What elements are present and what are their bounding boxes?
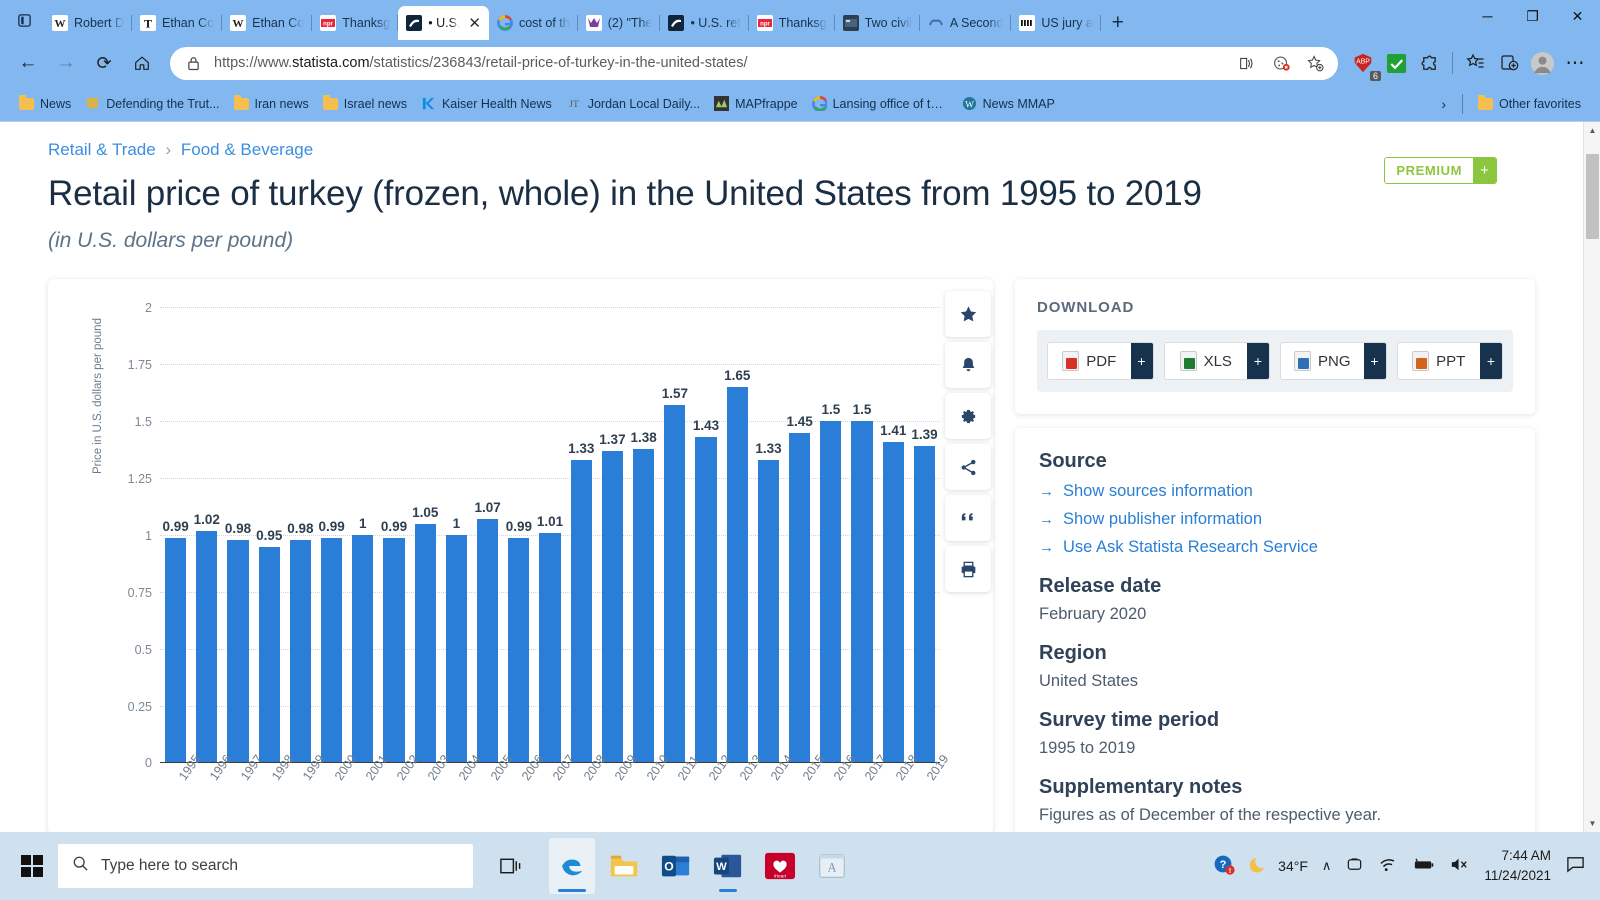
source-link-0[interactable]: →Show sources information: [1039, 482, 1511, 501]
tab-title: • U.S.: [428, 16, 460, 30]
tab-title: Two civil: [865, 16, 912, 30]
browser-tab-4[interactable]: • U.S.✕: [398, 6, 489, 40]
taskbar-edge-icon[interactable]: [549, 838, 595, 894]
bar-2001[interactable]: 1: [352, 535, 373, 763]
browser-tab-1[interactable]: TEthan Co: [132, 6, 222, 40]
xls-file-icon: [1180, 351, 1197, 371]
folder-icon: [19, 98, 34, 110]
x-tick-slot-1998: 1998: [254, 771, 285, 827]
page-scrollbar[interactable]: ▲ ▼: [1583, 122, 1600, 832]
mapfrappe-icon: [714, 96, 729, 111]
bar-value-label-2005: 1.07: [474, 500, 500, 515]
taskbar-acrobat-icon[interactable]: A: [809, 838, 855, 894]
bar-2007[interactable]: 1.01: [539, 533, 560, 763]
bar-value-label-2003: 1.05: [412, 505, 438, 520]
taskbar-iheart-icon[interactable]: iHeart: [757, 838, 803, 894]
scroll-down-arrow[interactable]: ▼: [1584, 815, 1600, 832]
arrow-right-icon: →: [1039, 539, 1054, 556]
bookmark-item-8[interactable]: WNews MMAP: [955, 92, 1062, 115]
browser-tab-0[interactable]: WRobert D: [44, 6, 132, 40]
bookmarks-overflow-button[interactable]: ›: [1433, 96, 1454, 112]
alert-bell-icon[interactable]: [945, 342, 991, 388]
bar-2014[interactable]: 1.33: [758, 460, 779, 763]
windows-logo-icon: [21, 855, 43, 877]
browser-tab-5[interactable]: cost of th: [489, 6, 578, 40]
region-heading: Region: [1039, 642, 1511, 665]
source-link-label: Show publisher information: [1063, 510, 1262, 529]
tab-title: A Second: [950, 16, 1004, 30]
download-plus-icon[interactable]: +: [1247, 343, 1269, 379]
clock-time: 7:44 AM: [1484, 846, 1551, 866]
x-tick-slot-2018: 2018: [878, 771, 909, 827]
supplementary-notes-value: Figures as of December of the respective…: [1039, 806, 1511, 825]
bar-2015[interactable]: 1.45: [789, 433, 810, 764]
bar-1999[interactable]: 0.98: [290, 540, 311, 763]
search-icon: [72, 855, 89, 877]
taskbar-outlook-icon[interactable]: O: [653, 838, 699, 894]
bar-2004[interactable]: 1: [446, 535, 467, 763]
release-date-heading: Release date: [1039, 575, 1511, 598]
svg-text:T: T: [144, 17, 152, 31]
source-link-2[interactable]: →Use Ask Statista Research Service: [1039, 538, 1511, 557]
svg-text:W: W: [716, 861, 727, 873]
browser-tab-11[interactable]: US jury a: [1011, 6, 1100, 40]
page-title: Retail price of turkey (frozen, whole) i…: [48, 174, 1555, 214]
info-card: Source →Show sources information→Show pu…: [1015, 428, 1535, 832]
bar-slot-2014: 1.33: [753, 307, 784, 763]
download-xls-button[interactable]: XLS+: [1164, 342, 1271, 380]
onedrive-icon[interactable]: [1345, 856, 1364, 876]
bar-value-label-2004: 1: [453, 516, 461, 531]
bar-slot-2017: 1.5: [846, 307, 877, 763]
tab-title: US jury a: [1041, 16, 1092, 30]
reload-button[interactable]: ⟳: [86, 46, 122, 80]
folder-icon: [234, 98, 249, 110]
browser-tab-2[interactable]: WEthan Co: [222, 6, 312, 40]
bar-slot-2012: 1.43: [690, 307, 721, 763]
x-tick-slot-2001: 2001: [347, 771, 378, 827]
tab-actions-icon[interactable]: [4, 0, 44, 40]
source-links: →Show sources information→Show publisher…: [1039, 482, 1511, 557]
x-tick-slot-1999: 1999: [285, 771, 316, 827]
task-view-icon[interactable]: [487, 838, 533, 894]
start-button[interactable]: [6, 832, 58, 900]
profile-avatar[interactable]: [1527, 48, 1557, 78]
restore-button[interactable]: ❐: [1510, 0, 1555, 32]
x-tick-slot-2017: 2017: [846, 771, 877, 827]
x-tick-slot-2010: 2010: [628, 771, 659, 827]
window-controls: ─ ❐ ✕: [1465, 0, 1600, 40]
bookmarks-divider: [1462, 94, 1463, 114]
browser-window: WRobert DTEthan CoWEthan ConprThanksg• U…: [0, 0, 1600, 832]
weather-widget[interactable]: 34°F: [1249, 854, 1308, 878]
notification-icon[interactable]: [1565, 855, 1586, 877]
right-sidebar: DOWNLOAD PDF+XLS+PNG+PPT+ Source →Show s…: [1015, 279, 1535, 832]
bar-slot-2010: 1.38: [628, 307, 659, 763]
add-to-collection-icon[interactable]: [1494, 48, 1524, 78]
bar-slot-2011: 1.57: [659, 307, 690, 763]
plot-area: 00.250.50.7511.251.51.752 0.991.020.980.…: [160, 307, 940, 763]
bar-2010[interactable]: 1.38: [633, 449, 654, 764]
tab-close-icon[interactable]: ✕: [468, 16, 481, 31]
bookmark-item-3[interactable]: Israel news: [316, 93, 414, 115]
bar-value-label-1999: 0.98: [287, 521, 313, 536]
bar-value-label-1995: 0.99: [162, 519, 188, 534]
bar-value-label-2014: 1.33: [755, 441, 781, 456]
jt-icon: JT: [566, 96, 582, 111]
collections-icon[interactable]: [1461, 48, 1491, 78]
forward-button[interactable]: →: [48, 46, 84, 80]
bar-chart: Price in U.S. dollars per pound 00.250.5…: [48, 279, 993, 832]
google-icon: [812, 96, 827, 111]
statista-page: Retail & Trade › Food & Beverage PREMIUM…: [0, 140, 1555, 832]
bar-value-label-2006: 0.99: [506, 519, 532, 534]
bar-slot-2006: 0.99: [503, 307, 534, 763]
survey-period-heading: Survey time period: [1039, 709, 1511, 732]
arrow-right-icon: →: [1039, 483, 1054, 500]
download-plus-icon[interactable]: +: [1364, 343, 1386, 379]
tray-overflow-chevron[interactable]: ∧: [1322, 858, 1332, 874]
bar-value-label-1996: 1.02: [194, 512, 220, 527]
home-button[interactable]: [124, 46, 160, 80]
breadcrumb: Retail & Trade › Food & Beverage: [48, 140, 1555, 160]
x-tick-slot-2014: 2014: [753, 771, 784, 827]
download-png-button[interactable]: PNG+: [1280, 342, 1387, 380]
help-icon[interactable]: ?!: [1213, 854, 1235, 879]
news-icon: [843, 15, 859, 31]
battery-icon[interactable]: [1412, 857, 1435, 875]
tab-title: Thanksg: [342, 16, 390, 30]
puzzle-extension-icon[interactable]: [1414, 48, 1444, 78]
x-tick-slot-2007: 2007: [534, 771, 565, 827]
tab-strip: WRobert DTEthan CoWEthan ConprThanksg• U…: [0, 0, 1600, 40]
back-button[interactable]: ←: [10, 46, 46, 80]
download-plus-icon[interactable]: +: [1131, 343, 1153, 379]
bar-1996[interactable]: 1.02: [196, 531, 217, 764]
svg-text:W: W: [55, 18, 66, 30]
x-tick-slot-2003: 2003: [410, 771, 441, 827]
bar-slot-2003: 1.05: [410, 307, 441, 763]
npr-icon: npr: [320, 15, 336, 31]
bookmark-item-4[interactable]: Kaiser Health News: [414, 92, 559, 115]
folder-icon: [1478, 98, 1493, 110]
statista-icon: [668, 15, 684, 31]
bar-slot-2001: 1: [347, 307, 378, 763]
download-pdf-button[interactable]: PDF+: [1047, 342, 1154, 380]
y-tick-0: 0: [145, 756, 152, 770]
download-label: PDF: [1086, 353, 1116, 370]
y-tick-0.75: 0.75: [128, 586, 152, 600]
premium-plus-icon: +: [1473, 158, 1496, 183]
url-text: https://www.statista.com/statistics/2368…: [214, 55, 1226, 71]
tab-title: Ethan Co: [162, 16, 214, 30]
bar-slot-1996: 1.02: [191, 307, 222, 763]
y-axis-label: Price in U.S. dollars per pound: [92, 318, 104, 474]
bar-slot-2009: 1.37: [597, 307, 628, 763]
adblock-count-badge: 6: [1370, 71, 1381, 81]
khn-icon: [421, 96, 436, 111]
bar-2017[interactable]: 1.5: [851, 421, 872, 763]
taskbar-word-icon[interactable]: W: [705, 838, 751, 894]
read-aloud-icon[interactable]: [1234, 56, 1260, 71]
bookmark-item-5[interactable]: JTJordan Local Daily...: [559, 92, 707, 115]
svg-text:npr: npr: [760, 22, 770, 28]
y-tick-1.75: 1.75: [128, 358, 152, 372]
bar-value-label-2007: 1.01: [537, 514, 563, 529]
breadcrumb-retail-trade[interactable]: Retail & Trade: [48, 140, 156, 159]
bar-value-label-2001: 1: [359, 516, 367, 531]
x-tick-slot-2006: 2006: [503, 771, 534, 827]
source-link-label: Show sources information: [1063, 482, 1253, 501]
taskbar-search-placeholder: Type here to search: [101, 857, 238, 875]
bar-value-label-2018: 1.41: [880, 423, 906, 438]
download-title: DOWNLOAD: [1037, 299, 1513, 316]
browser-menu-icon[interactable]: ⋯: [1560, 48, 1590, 78]
bar-slot-2008: 1.33: [566, 307, 597, 763]
tab-title: cost of th: [519, 16, 570, 30]
x-tick-slot-2011: 2011: [659, 771, 690, 827]
bar-value-label-2010: 1.38: [631, 430, 657, 445]
taskbar-search-input[interactable]: Type here to search: [58, 844, 473, 888]
taskbar-apps: OWiHeartA: [549, 838, 855, 894]
statista-icon: [406, 15, 422, 31]
moon-icon: [1249, 854, 1270, 878]
browser-tab-8[interactable]: nprThanksg: [749, 6, 835, 40]
x-tick-slot-2009: 2009: [597, 771, 628, 827]
bar-value-label-2016: 1.5: [821, 402, 840, 417]
bar-slot-1999: 0.98: [285, 307, 316, 763]
bookmarks-bar: NewsDefending the Trut...Iran newsIsrael…: [0, 86, 1600, 122]
tab-title: • U.S. ret: [690, 16, 740, 30]
bookmark-item-0[interactable]: News: [12, 93, 78, 115]
temperature-value: 34°F: [1278, 858, 1308, 874]
download-ppt-button[interactable]: PPT+: [1397, 342, 1504, 380]
source-link-label: Use Ask Statista Research Service: [1063, 538, 1318, 557]
bar-value-label-2013: 1.65: [724, 368, 750, 383]
download-label: PPT: [1436, 353, 1465, 370]
google-icon: [497, 15, 513, 31]
svg-text:npr: npr: [323, 22, 333, 28]
x-tick-slot-1996: 1996: [191, 771, 222, 827]
svg-text:iHeart: iHeart: [774, 873, 787, 878]
scroll-up-arrow[interactable]: ▲: [1584, 122, 1600, 139]
breadcrumb-separator: ›: [165, 140, 171, 159]
address-bar[interactable]: https://www.statista.com/statistics/2368…: [170, 47, 1338, 80]
bar-slot-1995: 0.99: [160, 307, 191, 763]
bar-2018[interactable]: 1.41: [883, 442, 904, 763]
tab-title: (2) "The: [608, 16, 653, 30]
windows-taskbar: Type here to search OWiHeartA ?! 34°F ∧ …: [0, 832, 1600, 900]
share-icon[interactable]: [945, 444, 991, 490]
tab-title: Robert D: [74, 16, 124, 30]
y-tick-1: 1: [145, 529, 152, 543]
bar-2011[interactable]: 1.57: [664, 405, 685, 763]
pdf-file-icon: [1062, 351, 1079, 371]
x-tick-slot-2019: 2019: [909, 771, 940, 827]
bar-value-label-2017: 1.5: [853, 402, 872, 417]
browser-tab-3[interactable]: nprThanksg: [312, 6, 398, 40]
wifi-icon[interactable]: [1378, 856, 1398, 876]
bar-slot-1997: 0.98: [222, 307, 253, 763]
minimize-button[interactable]: ─: [1465, 0, 1510, 32]
x-tick-slot-2005: 2005: [472, 771, 503, 827]
download-label: PNG: [1318, 353, 1351, 370]
x-tick-slot-1997: 1997: [222, 771, 253, 827]
bookmark-item-7[interactable]: Lansing office of th...: [805, 92, 955, 115]
close-button[interactable]: ✕: [1555, 0, 1600, 32]
bar-2006[interactable]: 0.99: [508, 538, 529, 764]
bookmark-label: Kaiser Health News: [442, 97, 552, 111]
toolbar-divider: [1452, 52, 1453, 74]
bar-value-label-2008: 1.33: [568, 441, 594, 456]
bookmark-label: Iran news: [255, 97, 309, 111]
folder-icon: [323, 98, 338, 110]
bar-1997[interactable]: 0.98: [227, 540, 248, 763]
bookmark-label: MAPfrappe: [735, 97, 798, 111]
bookmark-item-6[interactable]: MAPfrappe: [707, 92, 805, 115]
bar-2009[interactable]: 1.37: [602, 451, 623, 763]
x-tick-slot-1995: 1995: [160, 771, 191, 827]
download-card: DOWNLOAD PDF+XLS+PNG+PPT+: [1015, 279, 1535, 414]
npr-icon: npr: [757, 15, 773, 31]
favorite-star-icon[interactable]: [945, 291, 991, 337]
y-tick-1.25: 1.25: [128, 472, 152, 486]
new-tab-button[interactable]: +: [1101, 6, 1135, 40]
bar-slot-2005: 1.07: [472, 307, 503, 763]
bookmark-item-2[interactable]: Iran news: [227, 93, 316, 115]
bar-slot-2007: 1.01: [534, 307, 565, 763]
premium-label: PREMIUM: [1385, 158, 1473, 183]
wikipedia-icon: W: [230, 15, 246, 31]
bar-slot-2004: 1: [441, 307, 472, 763]
bar-slot-2016: 1.5: [815, 307, 846, 763]
settings-gear-icon[interactable]: [945, 393, 991, 439]
arrow-right-icon: →: [1039, 511, 1054, 528]
svg-text:W: W: [233, 18, 244, 30]
bookmark-label: Jordan Local Daily...: [588, 97, 700, 111]
x-tick-slot-2008: 2008: [566, 771, 597, 827]
bookmark-label: Defending the Trut...: [106, 97, 219, 111]
tab-title: Ethan Co: [252, 16, 304, 30]
png-file-icon: [1294, 351, 1311, 371]
download-buttons: PDF+XLS+PNG+PPT+: [1037, 330, 1513, 392]
x-tick-slot-2000: 2000: [316, 771, 347, 827]
bar-2016[interactable]: 1.5: [820, 421, 841, 763]
bookmark-item-1[interactable]: Defending the Trut...: [78, 92, 226, 115]
add-favorite-icon[interactable]: [1302, 55, 1328, 72]
browser-tab-6[interactable]: (2) "The: [578, 6, 661, 40]
ppt-file-icon: [1412, 351, 1429, 371]
system-tray: ?! 34°F ∧ 7:44 AM 11/24/2021: [1213, 846, 1594, 885]
svg-text:JT: JT: [569, 99, 579, 110]
bookmark-label: Lansing office of th...: [833, 97, 948, 111]
bar-value-label-2019: 1.39: [911, 427, 937, 442]
svg-text:W: W: [965, 100, 974, 110]
taskbar-clock[interactable]: 7:44 AM 11/24/2021: [1484, 846, 1551, 885]
tab-title: Thanksg: [779, 16, 827, 30]
x-tick-slot-2004: 2004: [441, 771, 472, 827]
bar-2005[interactable]: 1.07: [477, 519, 498, 763]
page-subtitle: (in U.S. dollars per pound): [48, 229, 1555, 253]
barcode-icon: [1019, 15, 1035, 31]
svg-text:A: A: [828, 861, 837, 875]
checkmark-extension-icon[interactable]: [1381, 48, 1411, 78]
wikipedia-icon: W: [52, 15, 68, 31]
x-tick-slot-2013: 2013: [722, 771, 753, 827]
chart-card: Price in U.S. dollars per pound 00.250.5…: [48, 279, 993, 832]
bar-slot-2019: 1.39: [909, 307, 940, 763]
bar-1995[interactable]: 0.99: [165, 538, 186, 764]
volume-muted-icon[interactable]: [1449, 856, 1470, 876]
y-tick-2: 2: [145, 301, 152, 315]
bar-slot-2018: 1.41: [878, 307, 909, 763]
bar-value-label-2000: 0.99: [318, 519, 344, 534]
bar-slot-2002: 0.99: [378, 307, 409, 763]
browser-tab-10[interactable]: A Second: [920, 6, 1012, 40]
bar-value-label-2009: 1.37: [599, 432, 625, 447]
bar-value-label-2011: 1.57: [662, 386, 688, 401]
bar-2003[interactable]: 1.05: [415, 524, 436, 763]
cookie-blocked-icon[interactable]: [1268, 55, 1294, 72]
bar-value-label-2002: 0.99: [381, 519, 407, 534]
print-icon[interactable]: [945, 546, 991, 592]
bar-2000[interactable]: 0.99: [321, 538, 342, 764]
y-tick-1.5: 1.5: [135, 415, 152, 429]
bar-2008[interactable]: 1.33: [571, 460, 592, 763]
wordpress-icon: W: [962, 96, 977, 111]
bar-1998[interactable]: 0.95: [259, 547, 280, 764]
svg-text:ABP: ABP: [1356, 58, 1370, 65]
twitter-icon: [586, 15, 602, 31]
bar-series: 0.991.020.980.950.980.9910.991.0511.070.…: [160, 307, 940, 763]
x-tick-slot-2016: 2016: [815, 771, 846, 827]
download-label: XLS: [1204, 353, 1232, 370]
bar-value-label-1997: 0.98: [225, 521, 251, 536]
bar-slot-2013: 1.65: [722, 307, 753, 763]
bar-2013[interactable]: 1.65: [727, 387, 748, 763]
x-axis-tick-labels: 1995199619971998199920002001200220032004…: [160, 771, 940, 827]
bar-2002[interactable]: 0.99: [383, 538, 404, 764]
bar-2012[interactable]: 1.43: [695, 437, 716, 763]
breadcrumb-food-beverage[interactable]: Food & Beverage: [181, 140, 313, 159]
browser-tab-7[interactable]: • U.S. ret: [660, 6, 748, 40]
bar-slot-1998: 0.95: [254, 307, 285, 763]
bar-slot-2000: 0.99: [316, 307, 347, 763]
release-date-value: February 2020: [1039, 605, 1511, 624]
bookmark-label: Israel news: [344, 97, 407, 111]
source-link-1[interactable]: →Show publisher information: [1039, 510, 1511, 529]
download-plus-icon[interactable]: +: [1480, 343, 1502, 379]
browser-tab-9[interactable]: Two civil: [835, 6, 920, 40]
premium-badge[interactable]: PREMIUM +: [1384, 157, 1497, 184]
content-row: Price in U.S. dollars per pound 00.250.5…: [48, 279, 1555, 832]
x-tick-slot-2002: 2002: [378, 771, 409, 827]
chart-action-rail: [945, 291, 997, 597]
bookmark-label: News: [40, 97, 71, 111]
bar-value-label-2012: 1.43: [693, 418, 719, 433]
bar-value-label-1998: 0.95: [256, 528, 282, 543]
clock-date: 11/24/2021: [1484, 866, 1551, 886]
bar-2019[interactable]: 1.39: [914, 446, 935, 763]
x-tick-slot-2015: 2015: [784, 771, 815, 827]
adblock-icon[interactable]: ABP 6: [1348, 48, 1378, 78]
other-favorites-folder[interactable]: Other favorites: [1471, 93, 1588, 115]
svg-text:O: O: [664, 860, 673, 874]
y-tick-0.25: 0.25: [128, 700, 152, 714]
scrollbar-thumb[interactable]: [1586, 154, 1599, 239]
taskbar-file-explorer-icon[interactable]: [601, 838, 647, 894]
citation-quote-icon[interactable]: [945, 495, 991, 541]
